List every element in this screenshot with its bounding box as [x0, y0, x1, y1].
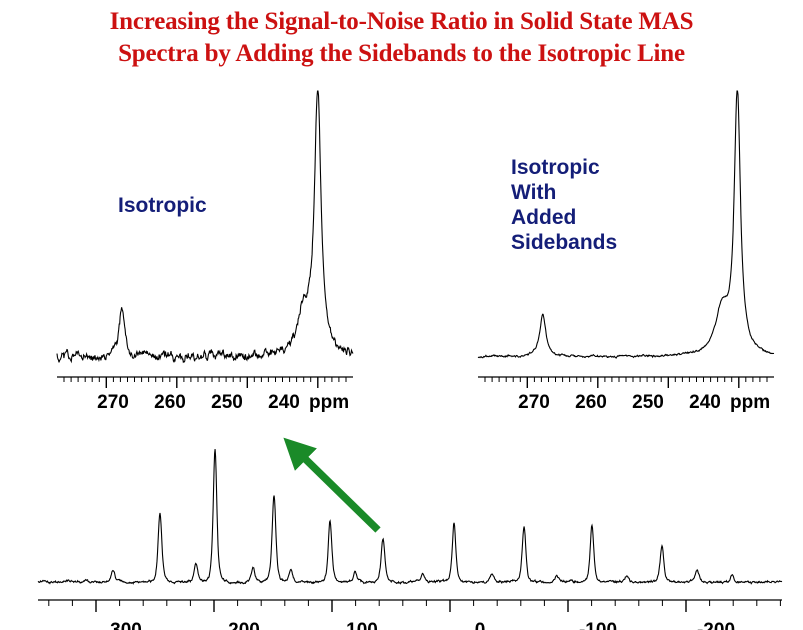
- bottom-tick-label-2: 100: [346, 620, 378, 630]
- left-axis-labels: 270 260 250 240 ppm: [45, 392, 365, 418]
- left-tick-label-250: 250: [211, 392, 243, 414]
- page-title: Increasing the Signal-to-Noise Ratio in …: [0, 6, 803, 70]
- left-tick-label-260: 260: [154, 392, 186, 414]
- title-line-1: Increasing the Signal-to-Noise Ratio in …: [0, 6, 803, 38]
- right-annotation-line-1: Isotropic: [511, 155, 617, 180]
- left-annotation-line-1: Isotropic: [118, 193, 207, 218]
- right-axis-unit-label: ppm: [730, 392, 770, 414]
- left-annotation: Isotropic: [118, 193, 207, 218]
- right-annotation: Isotropic With Added Sidebands: [511, 155, 617, 255]
- left-spectrum-trace: [57, 91, 353, 362]
- left-axis-unit-label: ppm: [309, 392, 349, 414]
- bottom-tick-label-3: 0: [475, 620, 486, 630]
- slide-canvas: Increasing the Signal-to-Noise Ratio in …: [0, 0, 803, 630]
- bottom-axis-labels: 300 200 100 0 -100 -200: [30, 620, 790, 630]
- left-spectrum-plot: [45, 85, 365, 400]
- left-tick-label-240: 240: [268, 392, 300, 414]
- bottom-tick-label-1: 200: [228, 620, 260, 630]
- right-annotation-line-2: With: [511, 180, 617, 205]
- bottom-tick-label-0: 300: [110, 620, 142, 630]
- right-annotation-line-4: Sidebands: [511, 230, 617, 255]
- title-line-2: Spectra by Adding the Sidebands to the I…: [0, 38, 803, 70]
- green-arrow-icon: [270, 430, 395, 545]
- bottom-spectrum-plot: [30, 440, 790, 620]
- left-tick-label-270: 270: [97, 392, 129, 414]
- right-annotation-line-3: Added: [511, 205, 617, 230]
- right-tick-label-240: 240: [689, 392, 721, 414]
- right-tick-label-260: 260: [575, 392, 607, 414]
- bottom-spectrum-trace: [38, 449, 782, 584]
- left-spectrum-panel: [45, 85, 365, 400]
- bottom-tick-label-4: -100: [579, 620, 617, 630]
- right-tick-label-270: 270: [518, 392, 550, 414]
- bottom-tick-label-5: -200: [697, 620, 735, 630]
- right-axis: [478, 377, 774, 388]
- right-axis-labels: 270 260 250 240 ppm: [466, 392, 786, 418]
- bottom-axis: [38, 600, 782, 612]
- bottom-spectrum-panel: [30, 440, 790, 620]
- left-axis: [57, 377, 353, 388]
- green-arrow-line: [292, 446, 378, 530]
- right-tick-label-250: 250: [632, 392, 664, 414]
